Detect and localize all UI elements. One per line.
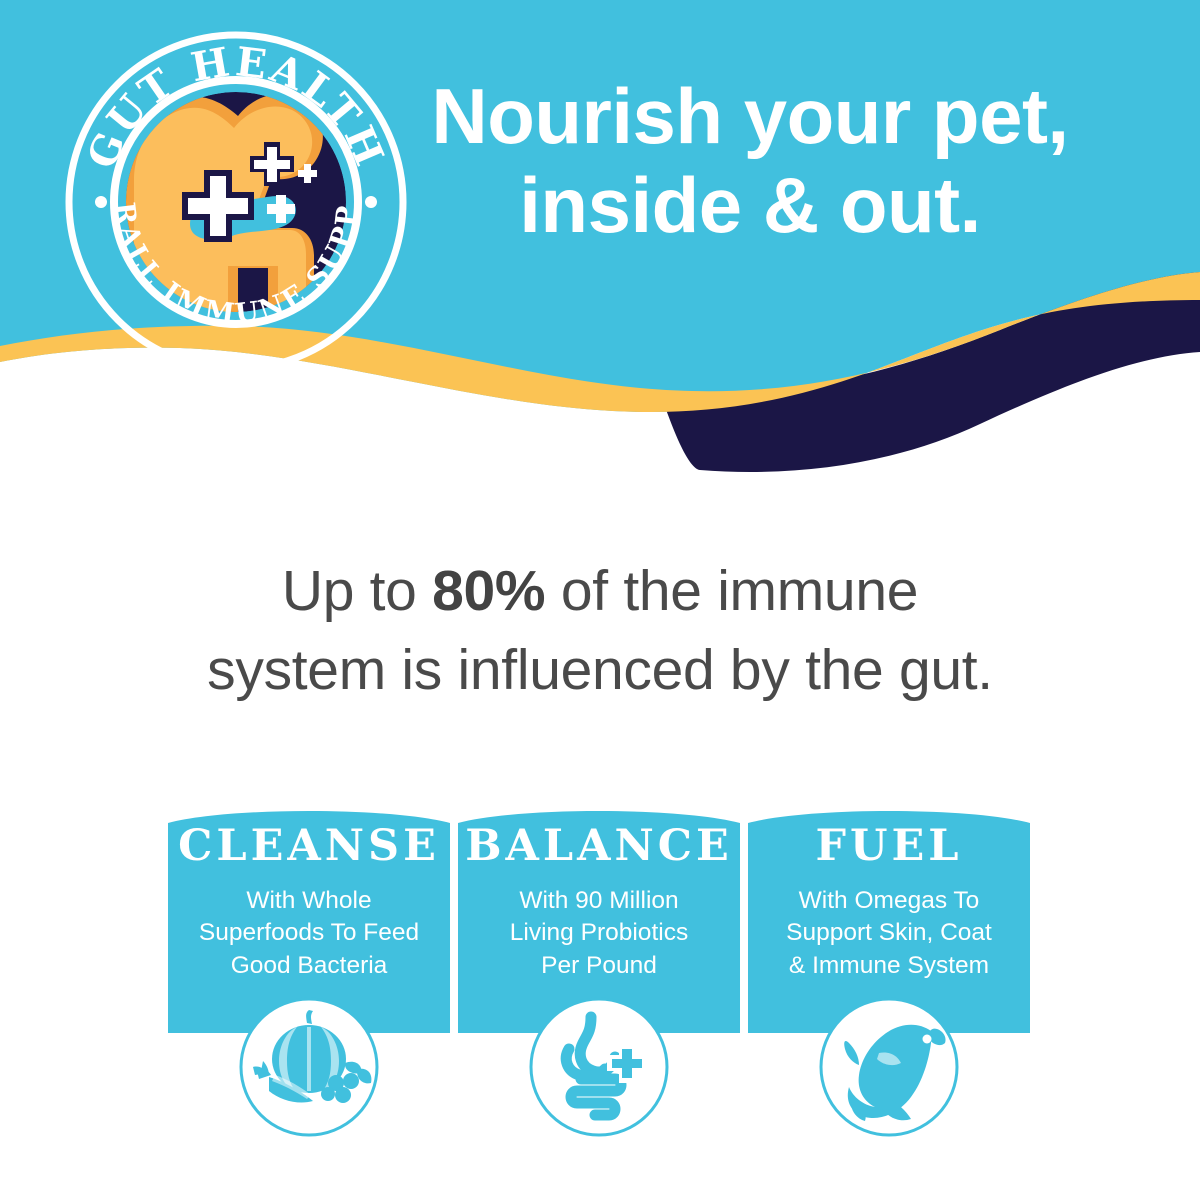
badge-subtitle-line-3: Good Bacteria [174, 950, 444, 982]
badge-subtitle-line-2: Living Probiotics [464, 917, 734, 949]
headline-line-2: inside & out. [430, 161, 1070, 250]
stat-statement: Up to 80% of the immune system is influe… [100, 552, 1100, 709]
badge-subtitle-line-1: With 90 Million [464, 885, 734, 917]
badge-subtitle-line-2: Support Skin, Coat [754, 917, 1024, 949]
badge-subtitle: With 90 Million Living Probiotics Per Po… [464, 885, 734, 982]
feature-badge-cleanse[interactable]: CLEANSE With Whole Superfoods To Feed Go… [168, 805, 450, 1165]
gut-health-seal-logo: GUT HEALTH OVERALL IMMUNE SUPPORT [62, 28, 410, 376]
badge-subtitle: With Whole Superfoods To Feed Good Bacte… [174, 885, 444, 982]
salmon-fish-icon [819, 997, 959, 1137]
badge-title: CLEANSE [168, 825, 450, 868]
stomach-intestines-cross-icon [529, 997, 669, 1137]
gut-health-infographic: GUT HEALTH OVERALL IMMUNE SUPPORT Nouris… [0, 0, 1200, 1199]
stat-prefix: Up to [282, 559, 432, 623]
badge-title: BALANCE [458, 825, 740, 868]
stat-line-1: Up to 80% of the immune [100, 552, 1100, 631]
feature-badge-fuel[interactable]: FUEL With Omegas To Support Skin, Coat &… [748, 805, 1030, 1165]
feature-badge-balance[interactable]: BALANCE With 90 Million Living Probiotic… [458, 805, 740, 1165]
badge-subtitle-line-1: With Omegas To [754, 885, 1024, 917]
badge-subtitle-line-3: & Immune System [754, 950, 1024, 982]
stat-percent: 80% [432, 559, 545, 623]
badge-subtitle: With Omegas To Support Skin, Coat & Immu… [754, 885, 1024, 982]
pumpkin-carrot-berries-icon [239, 997, 379, 1137]
headline-line-1: Nourish your pet, [430, 72, 1070, 161]
badge-title: FUEL [748, 825, 1030, 868]
badge-subtitle-line-2: Superfoods To Feed [174, 917, 444, 949]
seal-bullet-left [95, 196, 107, 208]
stat-suffix: of the immune [545, 559, 918, 623]
feature-badge-row: CLEANSE With Whole Superfoods To Feed Go… [168, 805, 1032, 1165]
headline: Nourish your pet, inside & out. [430, 72, 1070, 250]
badge-subtitle-line-3: Per Pound [464, 950, 734, 982]
badge-subtitle-line-1: With Whole [174, 885, 444, 917]
seal-bullet-right [365, 196, 377, 208]
stat-line-2: system is influenced by the gut. [100, 631, 1100, 710]
